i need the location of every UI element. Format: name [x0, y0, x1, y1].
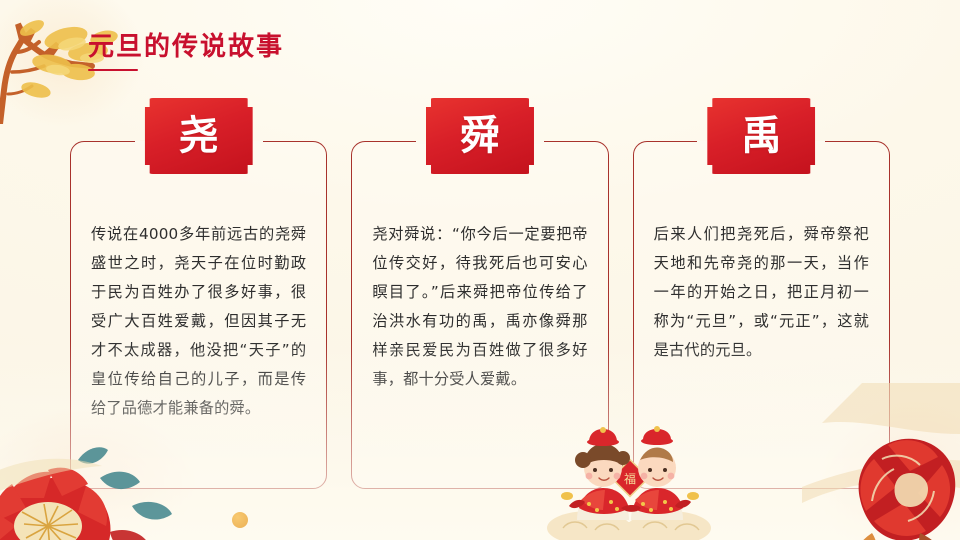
card-badge-shun: 舜 — [426, 98, 534, 174]
card-row: 尧 传说在4000多年前远古的尧舜盛世之时，尧天子在位时勤政于民为百姓办了很多好… — [70, 141, 890, 489]
story-card-yu[interactable]: 禹 后来人们把尧死后，舜帝祭祀天地和先帝尧的那一天，当作一年的开始之日，把正月初… — [633, 141, 890, 489]
page-title: 元旦的传说故事 — [88, 34, 284, 60]
title-underline — [88, 69, 138, 71]
card-body-text: 后来人们把尧死后，舜帝祭祀天地和先帝尧的那一天，当作一年的开始之日，把正月初一称… — [654, 220, 869, 365]
card-badge-yao: 尧 — [145, 98, 253, 174]
card-body-text: 传说在4000多年前远古的尧舜盛世之时，尧天子在位时勤政于民为百姓办了很多好事，… — [91, 220, 306, 423]
badge-label: 禹 — [741, 116, 781, 156]
header: 元旦的传说故事 — [88, 34, 284, 71]
badge-label: 尧 — [179, 116, 219, 156]
slide-root: 元旦的传说故事 尧 传说在4000多年前远古的尧舜盛世之时，尧天子在位时勤政于民… — [0, 0, 960, 540]
card-badge-yu: 禹 — [707, 98, 815, 174]
story-card-yao[interactable]: 尧 传说在4000多年前远古的尧舜盛世之时，尧天子在位时勤政于民为百姓办了很多好… — [70, 141, 327, 489]
card-body-text: 尧对舜说：“你今后一定要把帝位传交好，待我死后也可安心瞑目了。”后来舜把帝位传给… — [372, 220, 587, 394]
badge-label: 舜 — [460, 116, 500, 156]
story-card-shun[interactable]: 舜 尧对舜说：“你今后一定要把帝位传交好，待我死后也可安心瞑目了。”后来舜把帝位… — [351, 141, 608, 489]
